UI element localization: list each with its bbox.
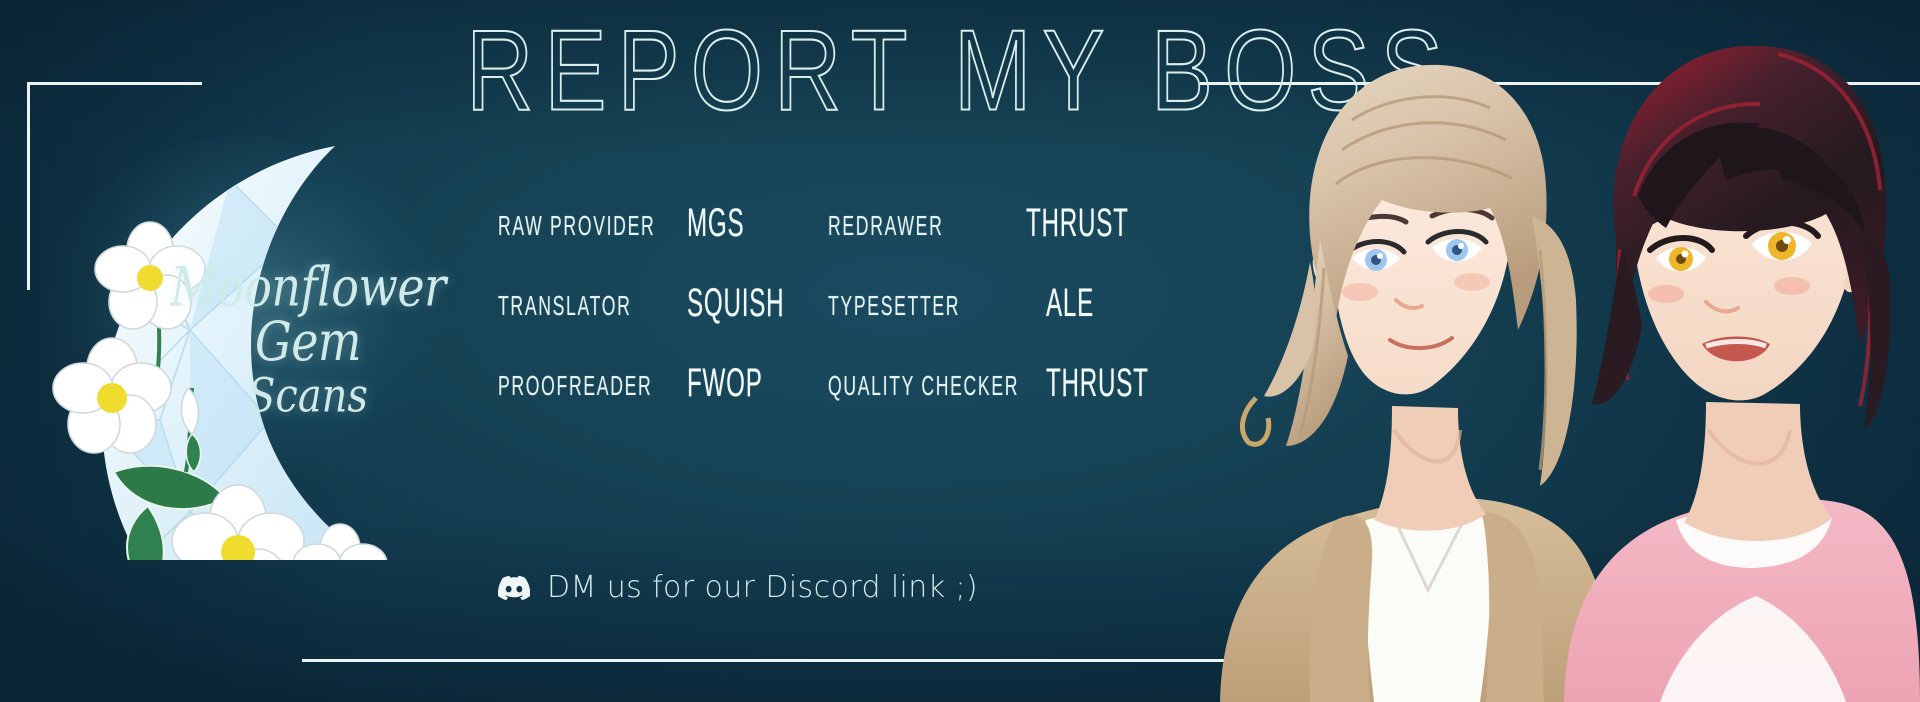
credit-value: FWOP [687,360,763,407]
credit-proofreader: PROOFREADER FWOP [498,365,828,401]
credit-translator: TRANSLATOR SQUISH [498,285,828,321]
credit-value: THRUST [1046,360,1149,407]
crescent-moon-icon [40,120,470,560]
credit-value: MGS [687,200,744,247]
credit-label: REDRAWER [828,210,972,243]
credit-typesetter: TYPESETTER ALE [828,285,1158,321]
credit-value: SQUISH [687,280,784,327]
discord-icon [498,572,530,604]
credit-label: RAW PROVIDER [498,210,638,243]
credits-banner: REPORT MY BOSS [0,0,1920,702]
credit-label: QUALITY CHECKER [828,370,988,403]
credit-redrawer: REDRAWER THRUST [828,205,1158,241]
credits-list: RAW PROVIDER MGS REDRAWER THRUST TRANSLA… [498,205,1158,445]
bottom-divider [302,659,1387,662]
credit-quality-checker: QUALITY CHECKER THRUST [828,365,1158,401]
credit-value: THRUST [1026,200,1129,247]
credit-label: PROOFREADER [498,370,638,403]
credit-raw-provider: RAW PROVIDER MGS [498,205,828,241]
credit-label: TRANSLATOR [498,290,638,323]
credit-label: TYPESETTER [828,290,988,323]
discord-invite[interactable]: DM us for our Discord link ;) [498,570,978,605]
credits-row: RAW PROVIDER MGS REDRAWER THRUST [498,205,1158,241]
scanlation-logo: Moonflower Gem Scans [40,120,470,560]
page-title: REPORT MY BOSS [134,13,1785,127]
credit-value: ALE [1046,280,1094,327]
credits-row: PROOFREADER FWOP QUALITY CHECKER THRUST [498,365,1158,401]
credits-row: TRANSLATOR SQUISH TYPESETTER ALE [498,285,1158,321]
discord-text: DM us for our Discord link ;) [547,570,978,605]
